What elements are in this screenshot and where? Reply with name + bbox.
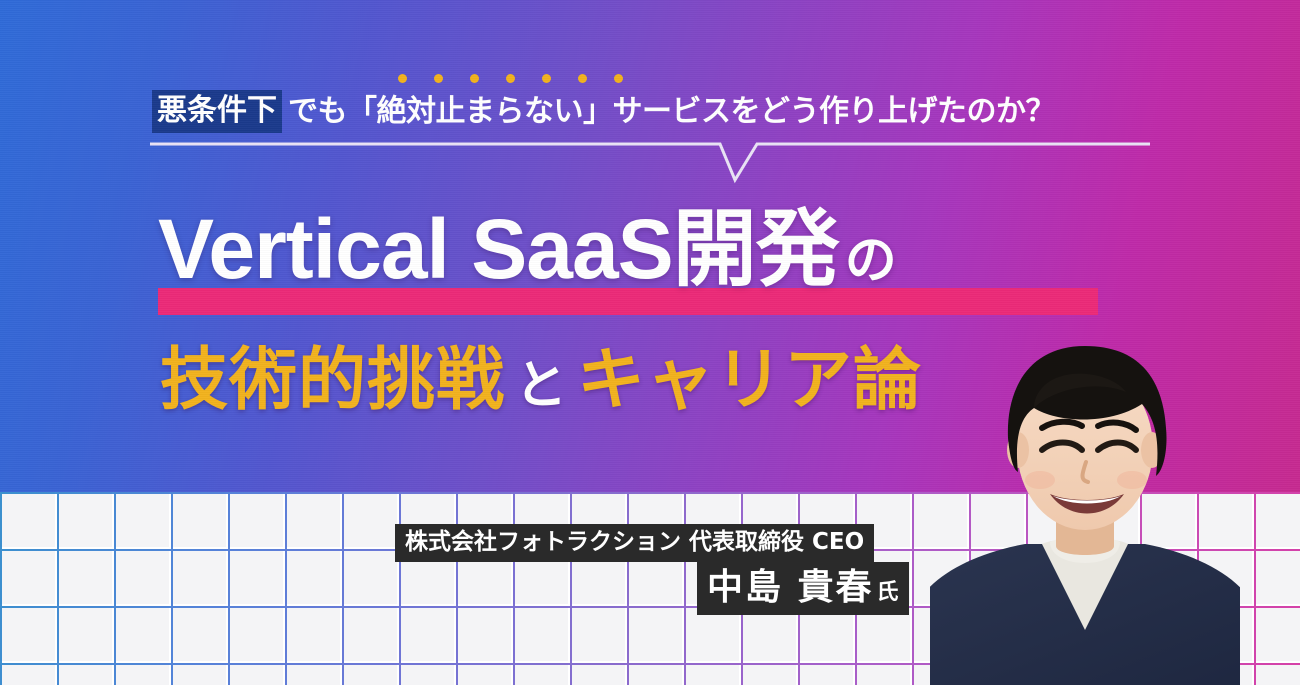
emphasis-dot bbox=[470, 74, 479, 83]
title-jp: 開発 bbox=[673, 207, 839, 291]
title-topic-2: キャリア論 bbox=[577, 347, 922, 415]
speaker-portrait bbox=[930, 330, 1240, 685]
eyebrow-badge: 悪条件下 bbox=[152, 90, 282, 133]
eyebrow-row: 悪条件下 でも「絶対止まらない」サービスをどう作り上げたのか？ bbox=[152, 90, 1055, 133]
title-line-1-wrap: Vertical SaaS 開発 の bbox=[158, 207, 897, 291]
speaker-name-plate: 中島 貴春 氏 bbox=[697, 562, 909, 615]
emphasis-dot bbox=[578, 74, 587, 83]
title-line-2: 技術的挑戦 と キャリア論 bbox=[160, 347, 922, 415]
title-particle: の bbox=[845, 235, 897, 287]
speaker-name: 中島 貴春 bbox=[707, 570, 874, 606]
title-latin: Vertical SaaS bbox=[158, 207, 673, 291]
emphasis-dot bbox=[614, 74, 623, 83]
eyebrow-text: でも「絶対止まらない」サービスをどう作り上げたのか？ bbox=[288, 97, 1055, 127]
divider-with-pointer bbox=[150, 140, 1150, 188]
emphasis-dot bbox=[434, 74, 443, 83]
speaker-honorific: 氏 bbox=[877, 582, 899, 604]
emphasis-dots bbox=[398, 74, 623, 83]
emphasis-dot bbox=[542, 74, 551, 83]
title-topic-1: 技術的挑戦 bbox=[160, 347, 505, 415]
speaker-company-plate: 株式会社フォトラクション 代表取締役 CEO bbox=[395, 524, 874, 562]
emphasis-dot bbox=[506, 74, 515, 83]
title-line-1: Vertical SaaS 開発 の bbox=[158, 207, 897, 291]
title-conjunction: と bbox=[515, 360, 567, 412]
interview-banner: 悪条件下 でも「絶対止まらない」サービスをどう作り上げたのか？ Vertical… bbox=[0, 0, 1300, 685]
emphasis-dot bbox=[398, 74, 407, 83]
